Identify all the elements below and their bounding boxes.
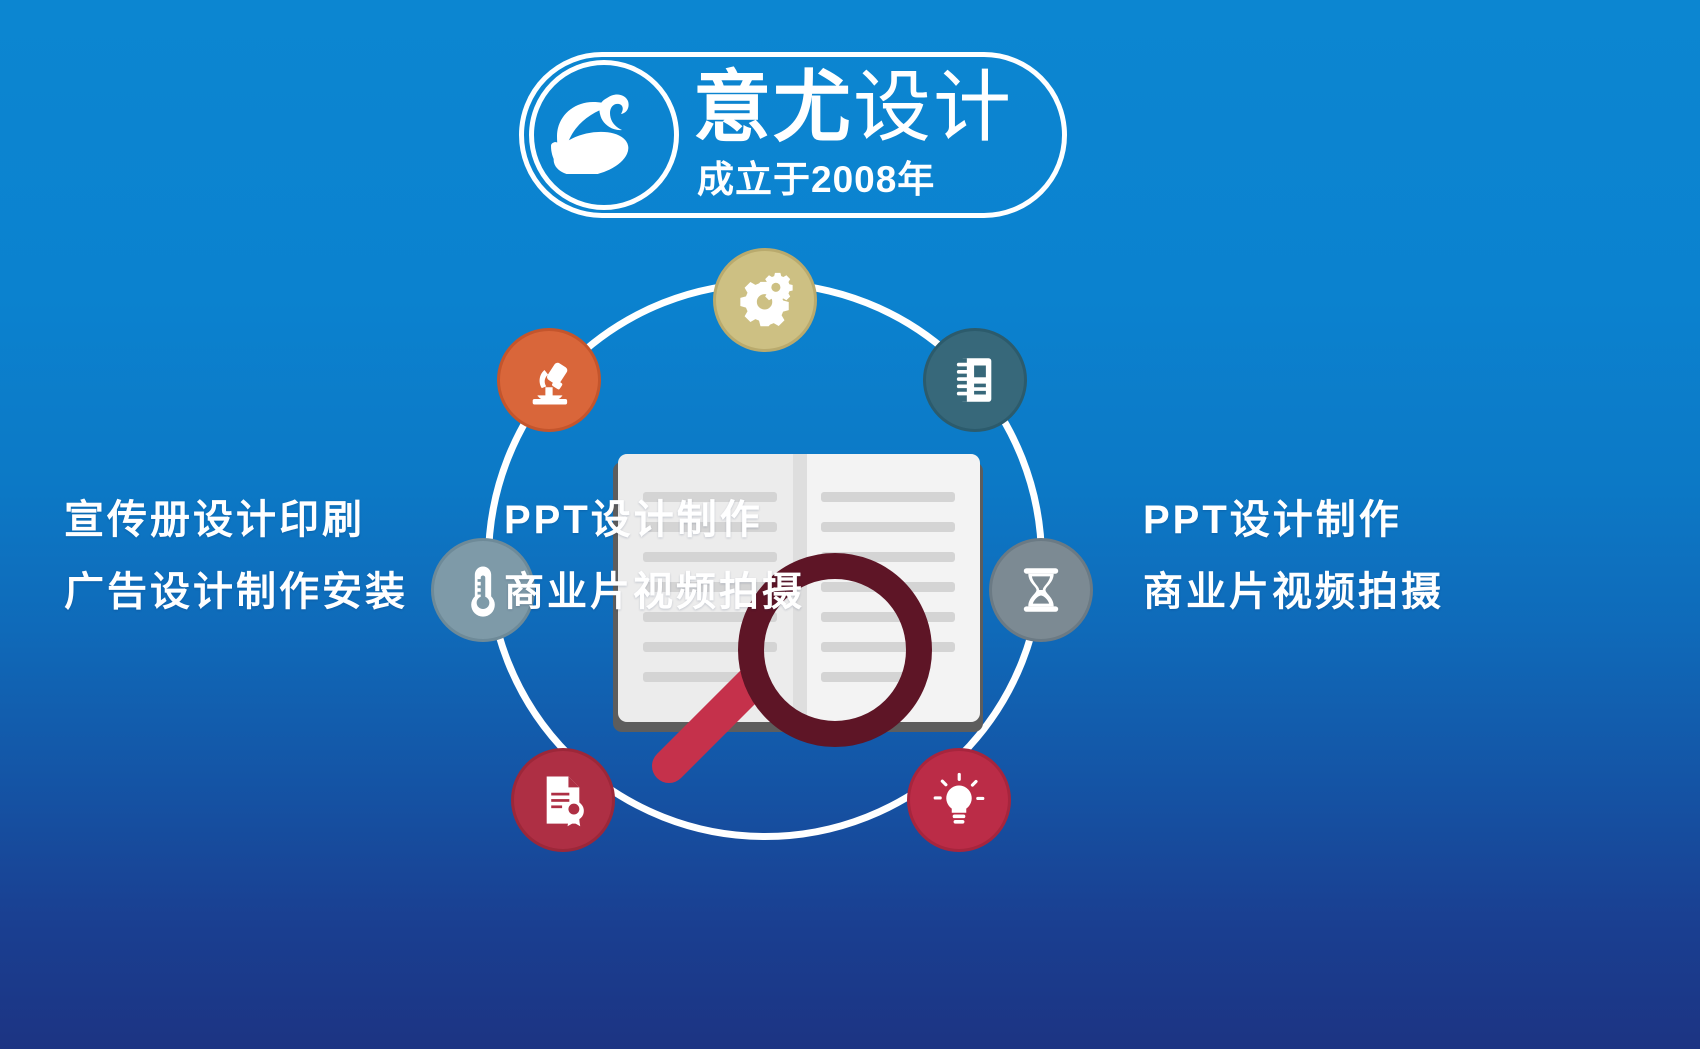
service-column-center: PPT设计制作 商业片视频拍摄 <box>504 484 805 628</box>
service-text-line: 商业片视频拍摄 <box>1143 556 1444 628</box>
diagram-node-gears[interactable] <box>713 248 817 352</box>
gears-icon <box>736 271 794 329</box>
service-text-line: 广告设计制作安装 <box>64 556 408 628</box>
logo-established: 成立于2008年 <box>697 158 935 202</box>
hourglass-icon <box>1012 561 1070 619</box>
diagram-node-certificate[interactable] <box>511 748 615 852</box>
microscope-icon <box>520 351 578 409</box>
brand-logo: 意尤设计 成立于2008年 <box>519 52 1067 218</box>
logo-wordmark: 意尤设计 成立于2008年 <box>693 62 1059 208</box>
diagram-node-microscope[interactable] <box>497 328 601 432</box>
notebook-icon <box>946 351 1004 409</box>
service-column-left: 宣传册设计印刷 广告设计制作安装 <box>64 484 408 628</box>
diagram-node-notebook[interactable] <box>923 328 1027 432</box>
logo-name-thin: 设计 <box>853 63 1013 151</box>
slide-canvas: 意尤设计 成立于2008年 <box>0 0 1700 1049</box>
certificate-icon <box>534 771 592 829</box>
service-text-line: PPT设计制作 <box>1143 484 1444 556</box>
service-column-right: PPT设计制作 商业片视频拍摄 <box>1143 484 1444 628</box>
service-text-line: 宣传册设计印刷 <box>64 484 408 556</box>
logo-name: 意尤设计 <box>693 64 1059 150</box>
leaf-bird-logo-icon <box>545 82 641 174</box>
logo-name-bold: 意尤 <box>693 63 853 151</box>
service-text-line: PPT设计制作 <box>504 484 805 556</box>
service-text-line: 商业片视频拍摄 <box>504 556 805 628</box>
